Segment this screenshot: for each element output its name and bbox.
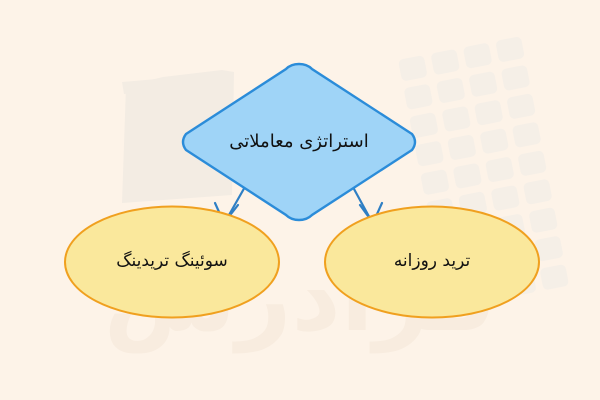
node-layer: استراتژی معاملاتی سوئینگ تریدینگ ترید رو… [0,0,600,400]
node-day-trading[interactable]: ترید روزانه [323,205,541,319]
node-label-day-trading: ترید روزانه [394,251,470,272]
node-swing-trading[interactable]: سوئینگ تریدینگ [63,205,281,319]
node-trading-strategy[interactable]: استراتژی معاملاتی [177,60,421,224]
node-label-swing-trading: سوئینگ تریدینگ [116,251,227,272]
node-label-trading-strategy: استراتژی معاملاتی [229,131,368,154]
diagram-canvas: فرادرس استراتژی معاملاتی سوئینگ تریدینگ [0,0,600,400]
